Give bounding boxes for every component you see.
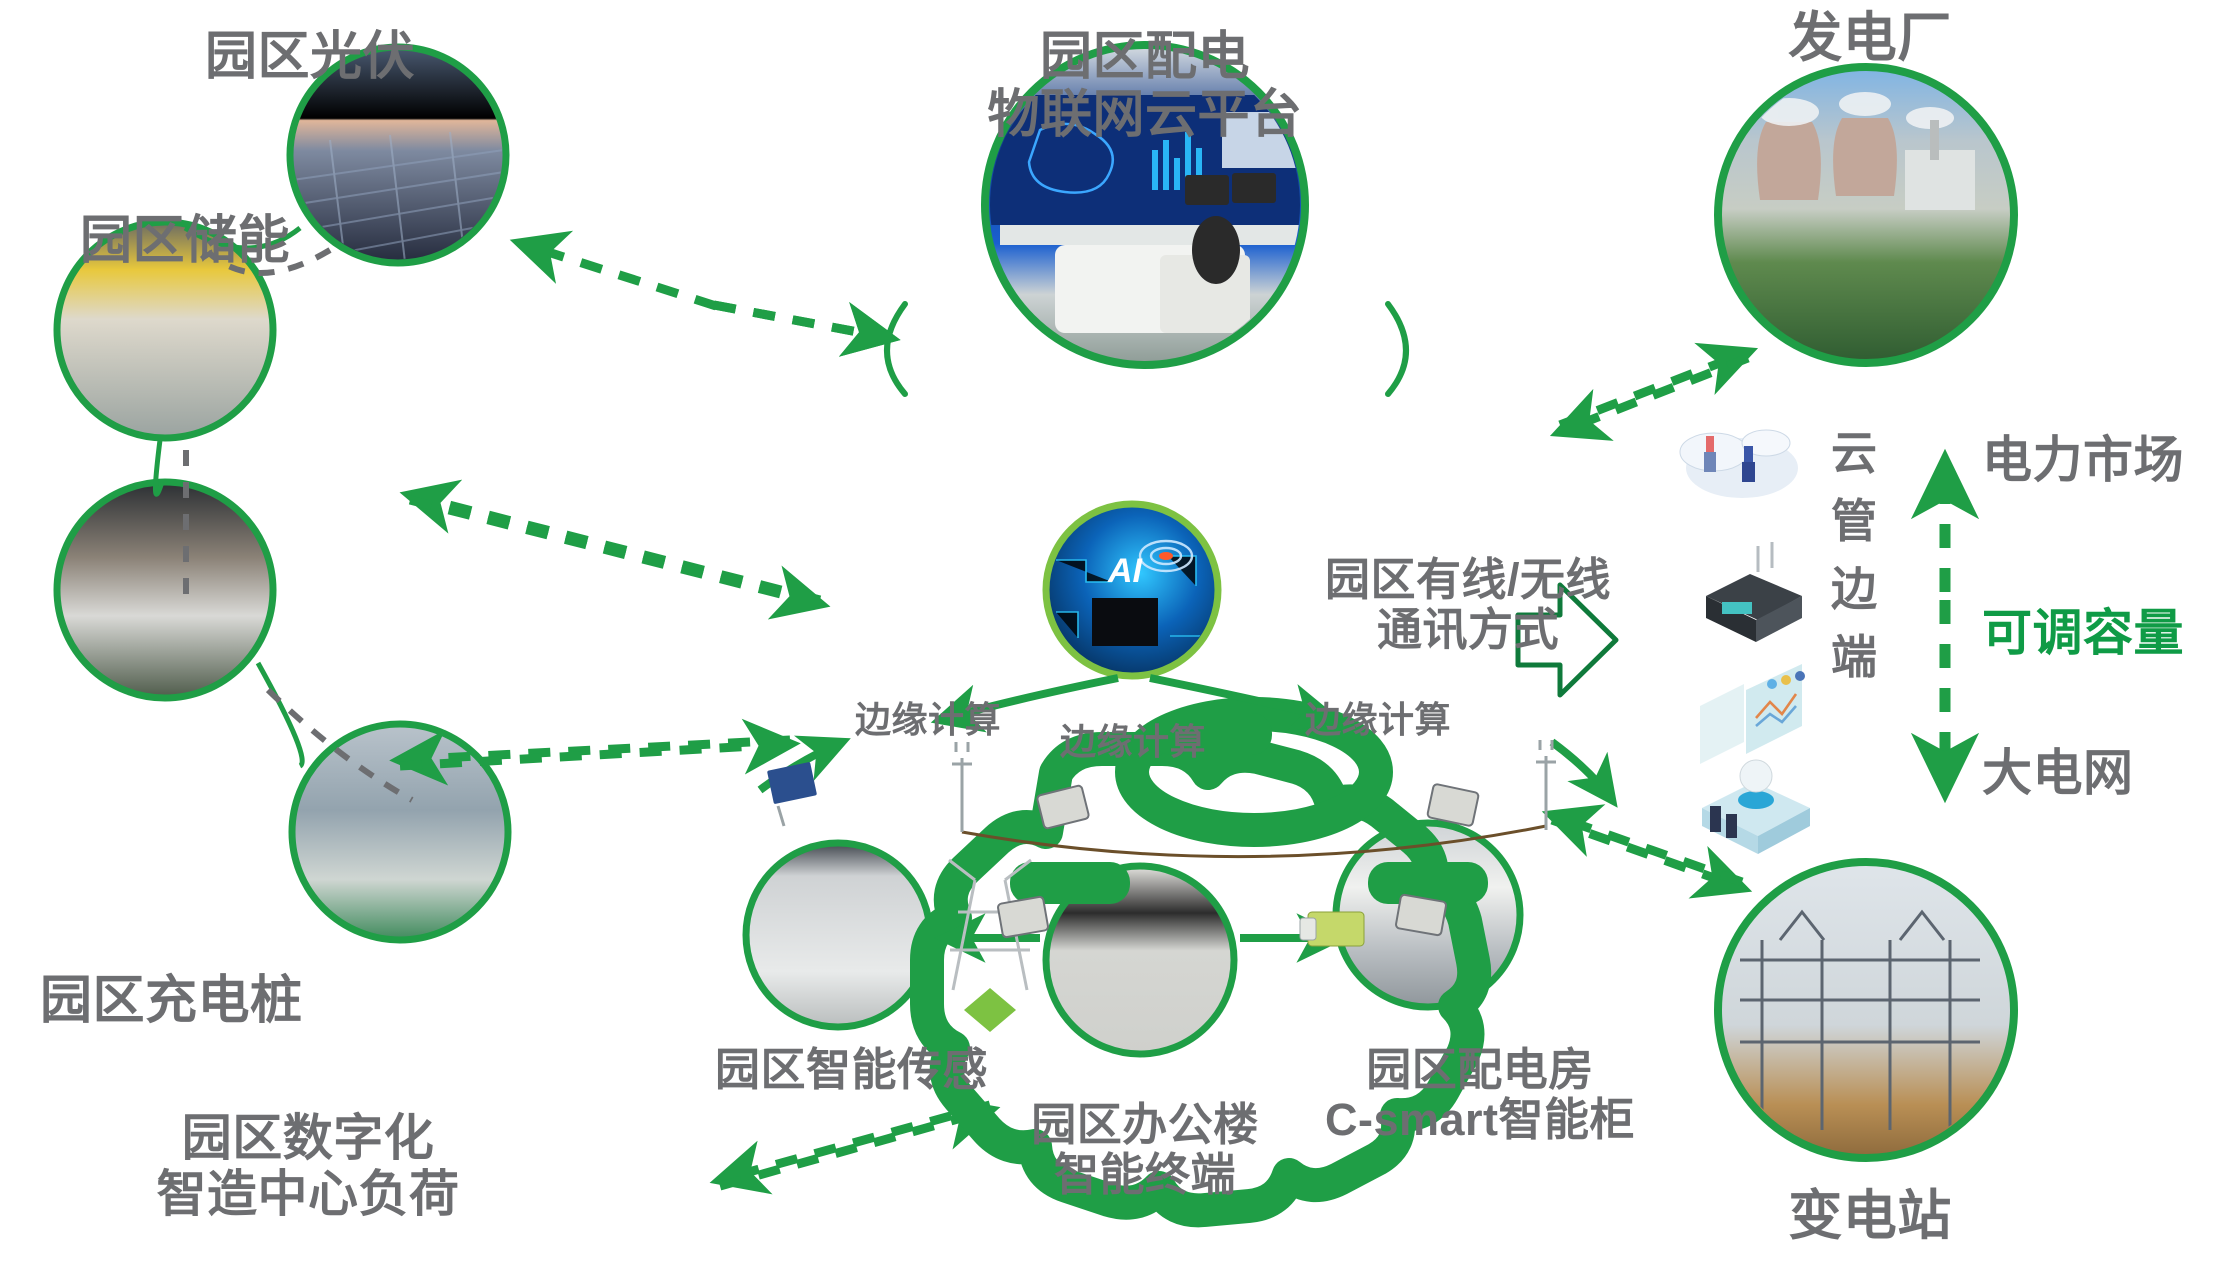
stack-item-end: 端 [1820, 634, 1888, 680]
substation-decor [1740, 912, 1980, 1130]
node-photo-office-terminal[interactable] [1046, 866, 1234, 1054]
cloud-people-icon [1680, 430, 1798, 498]
comm-mast-right-icon [1536, 740, 1556, 830]
arrow-right-edge-in [1552, 742, 1612, 800]
stack-item-pipe: 管 [1820, 498, 1888, 544]
terminal-user-icon [1702, 760, 1810, 854]
diagram-canvas: AI [0, 0, 2223, 1283]
solar-panel-small-icon [767, 762, 817, 826]
arrow-cloud-to-plant [1560, 352, 1748, 425]
label-smart-sensor: 园区智能传感 [715, 1045, 988, 1095]
bracket-right-decor [1388, 304, 1406, 394]
label-edge-computing-right: 边缘计算 [1305, 700, 1451, 740]
analytics-boards-icon [1700, 664, 1805, 764]
arrow-storage-to-gear [410, 500, 820, 604]
ai-chip-decor: AI [1056, 541, 1202, 646]
label-power-plant: 发电厂 [1700, 8, 2040, 68]
node-photo-digital-plant[interactable] [292, 724, 508, 940]
node-photo-csmart-cabinet[interactable] [1336, 823, 1520, 1007]
stack-item-edge: 边 [1820, 566, 1888, 612]
label-power-market: 电力市场 [1982, 432, 2184, 488]
cloud-pipe-edge-end-stack: 云 管 边 端 [1820, 430, 1888, 702]
label-edge-computing-left: 边缘计算 [855, 700, 1001, 740]
node-photo-ai-chip[interactable] [1046, 504, 1218, 676]
arrow-to-storage [410, 495, 820, 600]
arrow-cloud-to-pv [520, 243, 716, 306]
label-cloud-platform: 园区配电 物联网云平台 [935, 28, 1355, 144]
power-plant-decor [1757, 92, 1975, 210]
arrow-substation-to-csmart [1552, 815, 1742, 882]
arrow-pv-cloud [714, 305, 890, 338]
arrow-plant-to-cloud [1560, 358, 1748, 432]
label-storage: 园区储能 [80, 212, 290, 270]
node-photo-charging[interactable] [57, 482, 273, 698]
connector-storage-charging [155, 440, 162, 494]
diagram-graphics-layer: AI [0, 0, 2223, 1283]
label-big-grid: 大电网 [1982, 745, 2134, 801]
label-substation: 变电站 [1700, 1186, 2040, 1246]
arrow-charging-to-gear [400, 744, 790, 766]
connector-charging-plant [258, 663, 302, 766]
terminal-block-icon [1300, 912, 1364, 946]
arrow-pv-to-cloud [714, 305, 890, 338]
label-charging: 园区充电桩 [40, 972, 303, 1030]
node-photo-power-plant[interactable] [1718, 67, 2014, 363]
bracket-left-decor [887, 304, 905, 394]
node-photo-smart-sensor[interactable] [746, 843, 930, 1027]
label-adjustable-capacity: 可调容量 [1982, 605, 2184, 661]
pv-panel-lines-decor [292, 132, 504, 262]
label-office-terminal: 园区办公楼 智能终端 [975, 1100, 1315, 1201]
overhead-line-decor [962, 826, 1546, 857]
arrow-csmart-to-substation [1552, 820, 1742, 888]
label-pv: 园区光伏 [205, 28, 415, 86]
stack-item-cloud: 云 [1820, 430, 1888, 476]
comm-mast-left-icon [952, 742, 972, 832]
label-edge-computing-center: 边缘计算 [1060, 722, 1206, 762]
svg-text:AI: AI [1107, 552, 1144, 590]
label-digital-plant: 园区数字化 智造中心负荷 [118, 1110, 498, 1222]
node-photo-substation[interactable] [1718, 862, 2014, 1158]
arrow-to-plant [720, 1105, 990, 1180]
label-csmart-cabinet: 园区配电房 C-smart智能柜 [1290, 1045, 1670, 1146]
arrow-to-charging [400, 740, 790, 760]
edge-device-icons [997, 784, 1479, 938]
arrow-plant-to-sensor [720, 1110, 990, 1186]
arrow-left-edge-in [760, 742, 842, 790]
dashed-link-charging-plant [268, 690, 412, 800]
label-communication-method: 园区有线/无线 通讯方式 [1258, 555, 1678, 656]
transmission-tower-icon [949, 860, 1031, 1032]
gateway-device-icon [1706, 542, 1802, 642]
